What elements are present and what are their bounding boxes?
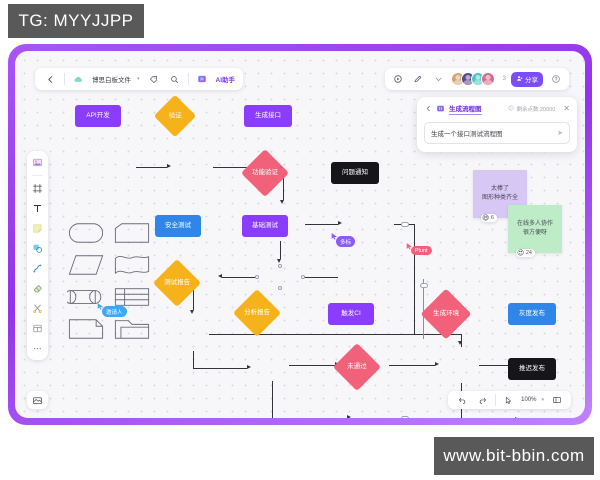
shapes-icon[interactable] [30,241,45,256]
ai-credits: 剩余点数:20000 [508,105,555,113]
flow-node-label: 灰度发布 [519,310,545,318]
note-corner-shape[interactable] [67,317,105,341]
ai-assistant-label[interactable]: AI助手 [216,74,236,84]
chevron-left-icon[interactable] [424,105,432,113]
connector-line [280,241,281,259]
node-handle[interactable] [255,275,259,279]
toolbar-divider [64,73,65,85]
flow-node-label: 生成环境 [433,310,459,318]
flow-node-delay-release[interactable]: 推迟发布 [508,358,556,380]
connector-arrow [280,200,284,204]
search-icon[interactable] [167,72,182,87]
connector-handle[interactable] [420,283,428,288]
connector-arrow [277,259,281,263]
flow-node-trigger-ci[interactable]: 触发CI [328,303,374,325]
avatar-overflow-count: 3 [503,76,506,82]
share-label: 分享 [525,74,538,84]
flow-node-label: 分析报告 [244,309,270,317]
flow-node-label: 推迟发布 [519,365,545,373]
sticky-note-text: 在线多人协作 很方便呀 [517,220,553,238]
tool-rail [27,151,48,360]
sticky-note-green[interactable]: 在线多人协作 很方便呀 [508,205,562,253]
connector-line [303,277,338,278]
close-icon[interactable]: ✕ [563,104,570,113]
paint-icon[interactable] [411,72,426,87]
connector-arrow [218,274,222,278]
ai-prompt-value: 生成一个接口测试流程图 [431,128,503,138]
share-button[interactable]: 分享 [511,72,543,87]
parallelogram-shape[interactable] [67,253,105,277]
zoom-level-label[interactable]: 100% [521,397,536,403]
flow-node-api-dev[interactable]: API开发 [75,105,121,127]
connector-arrow [458,341,462,345]
scissors-icon[interactable] [30,301,45,316]
app-screen: 博思白板文件 ▾ AI助手 [15,51,585,418]
file-name-label[interactable]: 博思白板文件 [92,74,131,84]
chevron-down-icon[interactable]: ▾ [137,76,140,82]
rail-separator [32,175,43,176]
document-wave-shape[interactable] [113,253,151,277]
ai-prompt-input[interactable]: 生成一个接口测试流程图 ➤ [424,122,570,144]
card-shape[interactable] [113,221,151,245]
sticky-note-reaction[interactable]: 😍24 [516,249,535,257]
flow-node-label: 问题通知 [342,169,368,177]
toolbar-right-group: 3 分享 [385,68,569,90]
reaction-emoji-icon: 😍 [517,250,524,257]
bottom-divider [495,394,496,406]
connector-arrow [347,415,351,418]
connector-line [193,288,194,310]
ai-generate-panel: 生成流程图 剩余点数:20000 ✕ 生成一个接口测试流程图 ➤ [417,97,577,152]
connector-arrow [515,417,519,418]
collaborator-avatars[interactable] [451,72,495,86]
toolbar-left-group: 博思白板文件 ▾ AI助手 [35,68,243,90]
collaborator-cursor: 多标 [330,228,339,246]
flow-node-gen-interface[interactable]: 生成接口 [244,105,292,127]
flow-node-label: 验证 [169,112,182,120]
layout-icon[interactable] [549,393,564,408]
tag-icon[interactable] [146,72,161,87]
node-handle[interactable] [278,286,282,290]
chevron-down-icon[interactable]: ▾ [541,397,544,403]
sticky-note-text: 太棒了 图形种类齐全 [482,185,518,203]
image-icon[interactable] [30,155,45,170]
connector-handle[interactable] [401,222,409,227]
present-icon[interactable] [391,72,406,87]
connector-arrow [247,365,251,369]
frame-icon[interactable] [30,181,45,196]
flow-node-label: 未通过 [347,363,367,371]
ai-sparkle-icon [436,104,445,113]
cloud-icon [71,72,86,87]
connector-arrow [167,164,171,168]
connector-line [193,351,194,368]
cursor-name-tag: Plunt [411,246,432,255]
watermark-top: TG: MYYJJPP [8,4,144,38]
reaction-count: 6 [491,215,494,221]
avatar[interactable] [481,72,495,86]
back-icon[interactable] [43,72,58,87]
shape-picker-panel [67,221,153,341]
connector-line [283,178,284,200]
connector-handle[interactable] [401,416,409,419]
connector-line [414,224,415,334]
more-icon[interactable] [431,72,446,87]
flow-node-label: 基础测试 [252,222,278,230]
info-icon [508,105,514,113]
pen-curve-icon[interactable] [30,261,45,276]
screenshot-root: TG: MYYJJPP 博思白板文件 ▾ [0,0,600,480]
folder-shape[interactable] [113,317,151,341]
sticky-note-reaction[interactable]: 😄6 [481,214,497,222]
share-person-icon [516,75,523,84]
cursor-name-tag: 邀请人 [102,306,127,317]
connector-line [389,365,435,366]
connector-arrow [190,310,194,314]
ai-sparkle-icon[interactable] [195,72,210,87]
flow-node-basic-test[interactable]: 基础测试 [242,215,288,237]
connector-arrow [435,362,439,366]
eraser-icon[interactable] [30,281,45,296]
connector-line [305,224,338,225]
flow-node-security-test[interactable]: 安全测试 [155,215,201,237]
flow-node-issue-notify[interactable]: 问题通知 [331,162,379,184]
flow-node-label: API开发 [86,112,109,120]
flow-node-gray-release[interactable]: 灰度发布 [508,303,556,325]
send-icon[interactable]: ➤ [557,129,563,137]
toolbar-divider-2 [188,73,189,85]
connector-line [289,365,335,366]
connector-arrow [338,221,342,225]
connector-line [272,381,273,418]
connector-line [193,368,247,369]
node-handle[interactable] [301,275,305,279]
reaction-count: 24 [526,250,532,256]
cursor-name-tag: 多标 [336,236,355,247]
pointer-icon[interactable] [501,393,516,408]
text-t-icon[interactable] [30,201,45,216]
rounded-rect-shape[interactable] [67,221,105,245]
table-icon[interactable] [30,321,45,336]
undo-icon[interactable] [455,393,470,408]
screenshot-button[interactable] [27,391,48,409]
help-icon[interactable] [548,72,563,87]
node-handle[interactable] [278,264,282,268]
sticky-note-icon[interactable] [30,221,45,236]
flow-node-label: 触发CI [341,310,361,318]
ai-panel-title: 生成流程图 [449,103,482,115]
watermark-bottom: www.bit-bbin.com [434,437,594,475]
redo-icon[interactable] [475,393,490,408]
plunt-cursor: Plunt [405,238,414,256]
invite-cursor: 邀请人 [96,298,105,316]
flow-node-label: 测试报告 [164,279,190,287]
flow-node-label: 生成接口 [255,112,281,120]
bottom-toolbar: 100% ▾ [448,391,571,409]
device-frame: 博思白板文件 ▾ AI助手 [8,44,592,425]
connector-line [136,167,167,168]
ai-credits-text: 剩余点数:20000 [516,105,555,113]
connector-line [222,277,257,278]
flow-node-label: 安全测试 [165,222,191,230]
reaction-emoji-icon: 😄 [482,215,489,222]
ai-panel-header: 生成流程图 剩余点数:20000 ✕ [424,103,570,115]
flow-node-label: 功能验证 [252,169,278,177]
ellipsis-icon[interactable] [30,341,45,356]
